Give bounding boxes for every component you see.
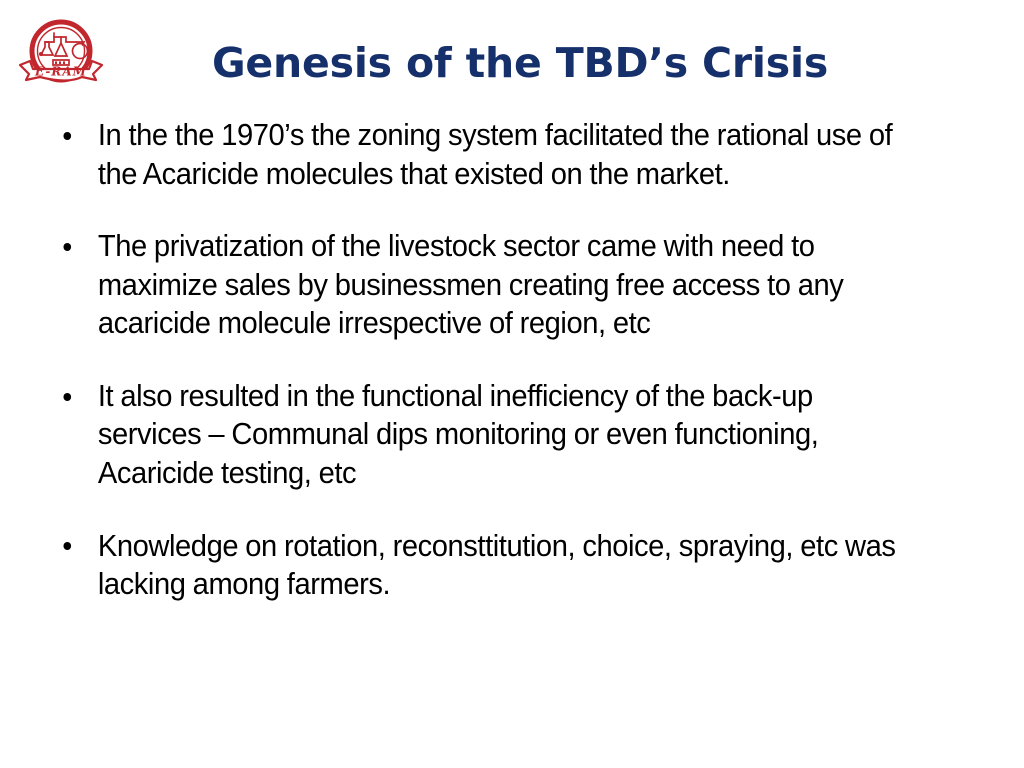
eram-logo: E-RAM: [14, 18, 108, 92]
list-item: The privatization of the livestock secto…: [52, 227, 912, 343]
bullet-dot-icon: [63, 243, 71, 251]
slide-canvas: E-RAM Genesis of the TBD’s Crisis In the…: [0, 0, 1024, 768]
bullet-list: In the the 1970’s the zoning system faci…: [52, 116, 952, 604]
list-item: In the the 1970’s the zoning system faci…: [52, 116, 912, 193]
bullet-dot-icon: [63, 132, 71, 140]
bullet-text: In the the 1970’s the zoning system faci…: [98, 116, 912, 193]
logo-ribbon-text: E-RAM: [34, 65, 87, 79]
bullet-text: Knowledge on rotation, reconsttitution, …: [98, 527, 912, 604]
bullet-text: The privatization of the livestock secto…: [98, 227, 912, 343]
bullet-dot-icon: [63, 542, 71, 550]
bullet-text: It also resulted in the functional ineff…: [98, 377, 912, 493]
page-title: Genesis of the TBD’s Crisis: [120, 42, 920, 85]
bullet-dot-icon: [63, 393, 71, 401]
list-item: Knowledge on rotation, reconsttitution, …: [52, 527, 912, 604]
list-item: It also resulted in the functional ineff…: [52, 377, 912, 493]
